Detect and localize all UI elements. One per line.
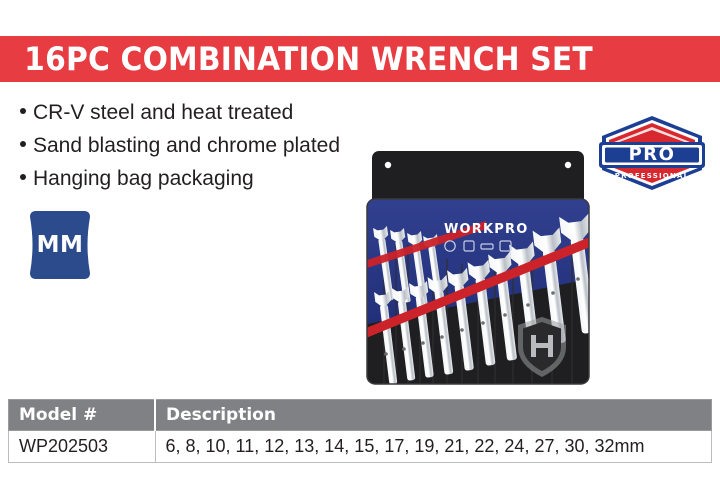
list-item: Sand blasting and chrome plated [20, 129, 380, 162]
table-row: WP202503 6, 8, 10, 11, 12, 13, 14, 15, 1… [9, 431, 712, 463]
svg-text:PROFESSIONAL: PROFESSIONAL [615, 172, 690, 180]
column-header-description: Description [155, 400, 712, 431]
table-header: Model # Description [9, 400, 712, 431]
svg-text:PRO: PRO [629, 144, 676, 165]
feature-text: Sand blasting and chrome plated [33, 129, 340, 162]
spec-table: Model # Description WP202503 6, 8, 10, 1… [8, 399, 712, 463]
table-header-row: Model # Description [9, 400, 712, 431]
page-title: 16PC COMBINATION WRENCH SET [0, 40, 593, 78]
wrench-set-pouch-illustration: WORKPRO [366, 149, 590, 385]
feature-list: CR-V steel and heat treated Sand blastin… [20, 96, 380, 195]
unit-badge: MM [22, 209, 98, 281]
pro-brand-icon: PRO PROFESSIONAL [596, 114, 708, 192]
title-banner: 16PC COMBINATION WRENCH SET [0, 36, 720, 82]
bullet-icon [20, 108, 26, 114]
cell-description: 6, 8, 10, 11, 12, 13, 14, 15, 17, 19, 21… [155, 431, 712, 463]
product-brand-text: WORKPRO [444, 222, 528, 237]
bullet-icon [20, 141, 26, 147]
column-header-model: Model # [9, 400, 156, 431]
bullet-icon [20, 174, 26, 180]
cell-model: WP202503 [9, 431, 156, 463]
list-item: CR-V steel and heat treated [20, 96, 380, 129]
feature-text: Hanging bag packaging [33, 162, 254, 195]
unit-badge-label: MM [22, 209, 98, 281]
pro-logo: PRO PROFESSIONAL [596, 114, 708, 192]
list-item: Hanging bag packaging [20, 162, 380, 195]
feature-text: CR-V steel and heat treated [33, 96, 293, 129]
table-body: WP202503 6, 8, 10, 11, 12, 13, 14, 15, 1… [9, 431, 712, 463]
product-image: WORKPRO [366, 149, 590, 385]
